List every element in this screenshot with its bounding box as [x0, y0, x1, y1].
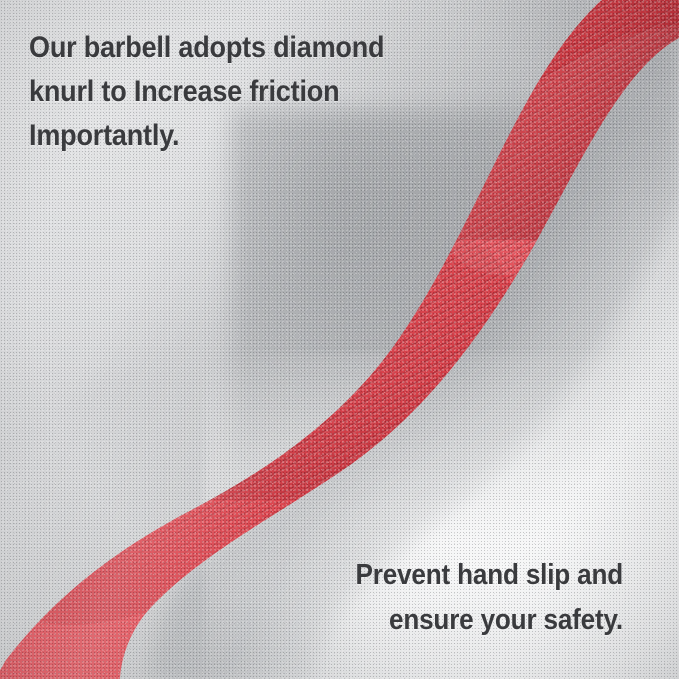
headline-text: Our barbell adopts diamond knurl to Incr…: [29, 26, 416, 158]
headline-line-1: Our barbell adopts diamond: [29, 26, 416, 70]
subline-line-1: Prevent hand slip and: [326, 553, 623, 598]
product-image-canvas: Our barbell adopts diamond knurl to Incr…: [0, 0, 679, 679]
headline-line-3: Importantly.: [29, 114, 416, 158]
headline-line-2: knurl to Increase friction: [29, 70, 416, 114]
subline-text: Prevent hand slip and ensure your safety…: [326, 553, 623, 643]
subline-line-2: ensure your safety.: [326, 598, 623, 643]
